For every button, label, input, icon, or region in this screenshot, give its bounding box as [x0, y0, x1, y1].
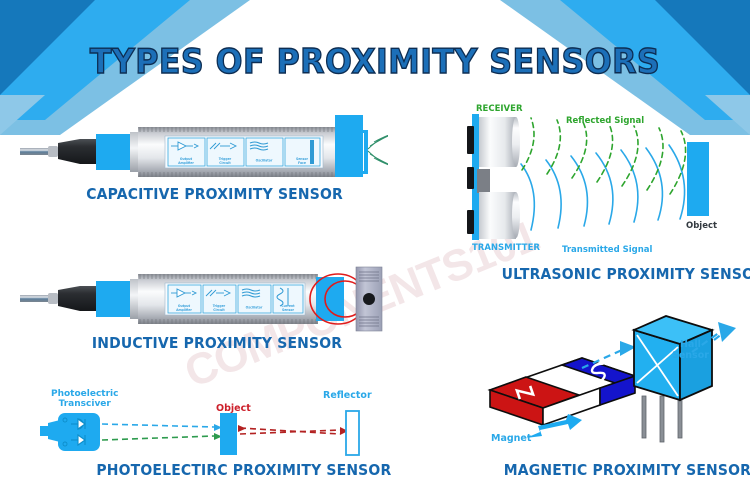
ultrasonic-caption: ULTRASONIC PROXIMITY SENSOR	[502, 265, 750, 283]
svg-text:Amplifier: Amplifier	[178, 161, 194, 165]
photoelectric-sensor-diagram	[40, 408, 370, 458]
svg-text:Sensor: Sensor	[282, 308, 294, 312]
photoelectric-caption: PHOTOELECTIRC PROXIMITY SENSOR	[96, 461, 391, 479]
ultrasonic-object-label: Object	[686, 222, 717, 232]
capacitive-sensor-diagram: OutputAmplifier TriggerCircuit Oscillato…	[18, 108, 388, 188]
svg-text:Circuit: Circuit	[219, 161, 231, 165]
photoelectric-transceiver-label: Photoelectric Transciver	[51, 389, 118, 410]
ultrasonic-transmitted-signal-label: Transmitted Signal	[562, 246, 652, 256]
magnetic-caption: MAGNETIC PROXIMITY SENSOR	[504, 461, 750, 479]
ultrasonic-receiver-label: RECEIVER	[476, 105, 523, 115]
photoelectric-object-label: Object	[216, 404, 251, 415]
inductive-sensor-diagram: OutputAmplifier TriggerCircuit Oscillato…	[18, 253, 388, 335]
svg-text:Amplifier: Amplifier	[176, 308, 192, 312]
capacitive-target-object	[335, 115, 363, 177]
hall-sensor-line2: Sensor	[672, 351, 709, 362]
inductive-caption: INDUCTIVE PROXIMITY SENSOR	[92, 334, 342, 352]
magnetic-magnet-label: Magnet	[491, 434, 531, 445]
photoelectric-transceiver-line1: Photoelectric	[51, 389, 118, 399]
svg-text:Oscillator: Oscillator	[246, 306, 263, 310]
svg-text:Face: Face	[298, 161, 306, 165]
infographic-canvas: COMPONENTS101 TYPES OF PROXIMITY SENSORS	[0, 0, 750, 500]
svg-text:Oscillator: Oscillator	[256, 159, 273, 163]
photoelectric-reflector-label: Reflector	[323, 391, 372, 402]
ultrasonic-reflected-signal-label: Reflected Signal	[566, 117, 644, 127]
photoelectric-transceiver-line2: Transciver	[51, 399, 118, 409]
magnetic-hall-sensor-label: Hall Sensor	[672, 340, 709, 362]
ultrasonic-transmitter-label: TRANSMITTER	[472, 244, 540, 254]
capacitive-caption: CAPACITIVE PROXIMITY SENSOR	[86, 185, 343, 203]
page-title: TYPES OF PROXIMITY SENSORS	[26, 42, 724, 82]
svg-text:Circuit: Circuit	[213, 308, 225, 312]
